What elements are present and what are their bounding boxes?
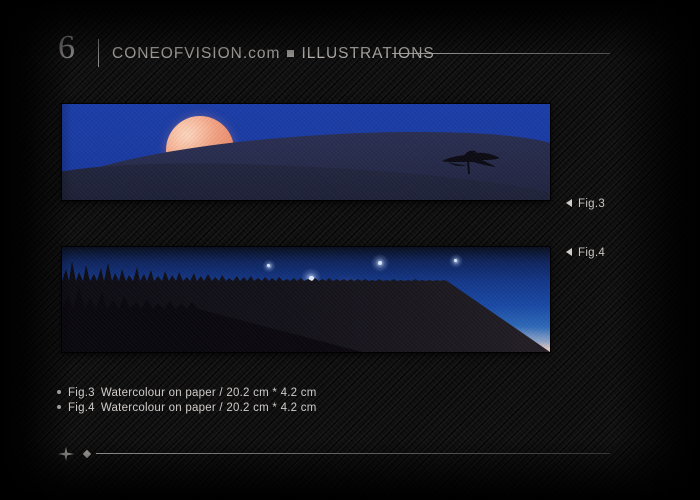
fig3-windswept-tree-silhouette (434, 144, 506, 178)
header-title: CONEOFVISION.comILLUSTRATIONS (112, 36, 435, 72)
caption-list: Fig.3Watercolour on paper / 20.2 cm * 4.… (57, 386, 477, 416)
caption-row: Fig.4Watercolour on paper / 20.2 cm * 4.… (57, 401, 477, 416)
square-bullet-icon (287, 50, 294, 57)
page-footer (0, 446, 700, 462)
caption-fig-id: Fig.3 (68, 387, 95, 399)
page-number: 6 (58, 30, 75, 66)
footer-rule (96, 453, 610, 454)
brand-name: CONEOFVISION.com (112, 45, 280, 62)
dot-bullet-icon (57, 390, 61, 394)
fig4-conifer-treeline (62, 247, 550, 352)
four-point-star-icon (58, 447, 74, 461)
callout-fig3: Fig.3 (566, 196, 605, 212)
artwork-plate-fig4[interactable] (62, 247, 550, 352)
header-rule (392, 53, 610, 54)
caption-text: Watercolour on paper / 20.2 cm * 4.2 cm (101, 402, 317, 414)
caption-fig-id: Fig.4 (68, 402, 95, 414)
triangle-left-icon (566, 248, 572, 256)
diamond-icon (83, 450, 91, 458)
caption-row: Fig.3Watercolour on paper / 20.2 cm * 4.… (57, 386, 477, 401)
page-header: 6 CONEOFVISION.comILLUSTRATIONS (0, 36, 700, 72)
callout-fig4: Fig.4 (566, 245, 605, 261)
callout-fig4-label: Fig.4 (578, 247, 605, 259)
artwork-plate-fig3[interactable] (62, 104, 550, 200)
dot-bullet-icon (57, 405, 61, 409)
callout-fig3-label: Fig.3 (578, 198, 605, 210)
triangle-left-icon (566, 199, 572, 207)
header-vertical-divider (98, 39, 99, 67)
caption-text: Watercolour on paper / 20.2 cm * 4.2 cm (101, 387, 317, 399)
portfolio-page: 6 CONEOFVISION.comILLUSTRATIONS (0, 0, 700, 500)
